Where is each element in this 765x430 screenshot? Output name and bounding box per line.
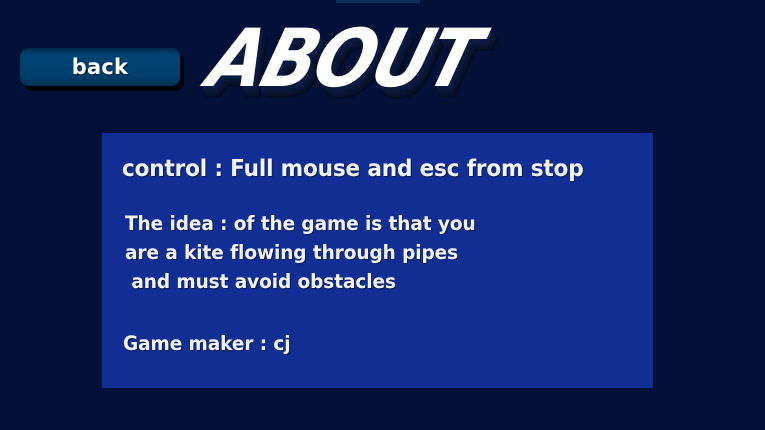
- back-button-label: back: [72, 55, 128, 79]
- page-title: ABOUT: [199, 14, 489, 104]
- about-screen: back ABOUT control : Full mouse and esc …: [0, 0, 765, 430]
- game-idea-text: The idea : of the game is that you are a…: [125, 209, 476, 296]
- top-edge-sliver: [336, 0, 420, 3]
- control-info-line: control : Full mouse and esc from stop: [122, 156, 584, 182]
- about-panel: control : Full mouse and esc from stop T…: [102, 133, 653, 388]
- back-button[interactable]: back: [20, 48, 180, 86]
- game-maker-line: Game maker : cj: [123, 332, 291, 355]
